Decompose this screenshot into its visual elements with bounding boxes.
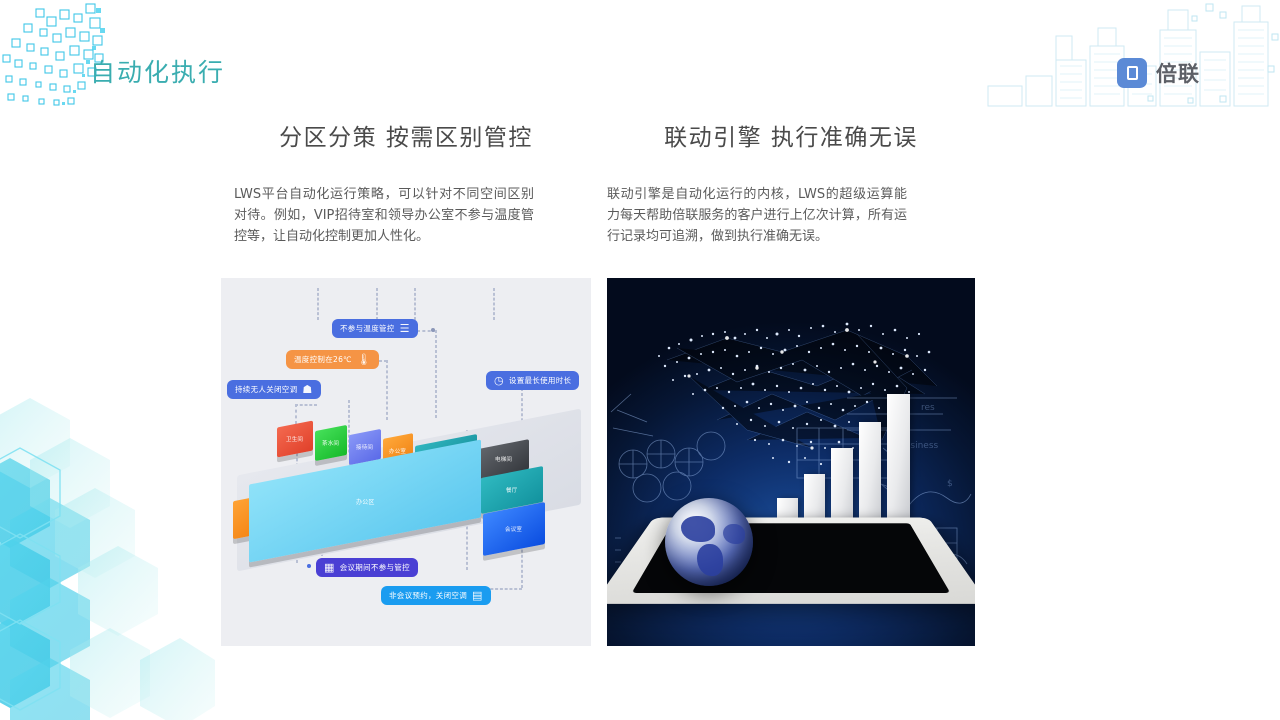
column-right-body: 联动引擎是自动化运行的内核，LWS的超级运算能力每天帮助倍联服务的客户进行上亿次… — [607, 184, 907, 247]
room-block: 卫生间 — [277, 421, 313, 458]
office-floor-model: 卫生间 茶水间 接待间 办公室 档案间 电梯间 餐厅 会议室 会议室 办公区 — [233, 418, 581, 563]
column-left-heading: 分区分策 按需区别管控 — [220, 118, 592, 152]
page-title: 自动化执行 — [90, 53, 225, 89]
column-right-heading: 联动引擎 执行准确无误 — [605, 118, 977, 152]
room-block: 茶水间 — [315, 425, 347, 461]
brand-mark-icon — [1117, 58, 1147, 88]
label-meeting-exempt[interactable]: ▦ 会议期间不参与管控 — [316, 558, 418, 577]
connector-dot — [307, 564, 311, 568]
list-document-icon: ☰ — [400, 323, 410, 334]
column-left-body: LWS平台自动化运行策略，可以针对不同空间区别对待。例如，VIP招待室和领导办公… — [234, 184, 534, 247]
column-left: 分区分策 按需区别管控 LWS平台自动化运行策略，可以针对不同空间区别对待。例如… — [220, 118, 592, 247]
brand-logo: 倍联 — [1117, 58, 1200, 88]
label-temperature-26[interactable]: 温度控制在26℃ 🌡 — [286, 350, 379, 369]
connector-line — [317, 288, 319, 320]
clock-icon: ◷ — [494, 375, 504, 386]
thermometer-icon: 🌡 — [357, 354, 371, 365]
connector-line — [376, 288, 378, 320]
connector-line — [295, 404, 317, 406]
tablet-device — [607, 518, 975, 604]
svg-text:res: res — [921, 403, 935, 413]
column-right: 联动引擎 执行准确无误 联动引擎是自动化运行的内核，LWS的超级运算能力每天帮助… — [605, 118, 977, 247]
floorplan-illustration: 卫生间 茶水间 接待间 办公室 档案间 电梯间 餐厅 会议室 会议室 办公区 不… — [221, 278, 591, 646]
brand-name: 倍联 — [1156, 58, 1200, 88]
city-skyline-decoration — [980, 0, 1280, 110]
meeting-room-icon: ▦ — [324, 562, 335, 573]
connector-line — [386, 360, 388, 420]
svg-text:$: $ — [947, 479, 953, 489]
calendar-icon: ▤ — [472, 590, 483, 601]
connector-line — [435, 330, 437, 418]
label-no-booking-ac-off[interactable]: 非会议预约，关闭空调 ▤ — [381, 586, 491, 605]
connector-dot — [431, 328, 435, 332]
globe-icon — [665, 498, 753, 586]
hexagon-pattern-decoration — [0, 360, 215, 720]
connector-line — [414, 288, 416, 320]
person-sensor-icon: ☗ — [302, 384, 312, 395]
label-unmanned-ac-off[interactable]: 持续无人关闭空调 ☗ — [227, 380, 321, 399]
label-no-temperature-control[interactable]: 不参与温度管控 ☰ — [332, 319, 418, 338]
connector-line — [493, 288, 495, 320]
datavis-illustration: res business $ — [607, 278, 975, 646]
label-max-usage-time[interactable]: ◷ 设置最长使用时长 — [486, 371, 579, 390]
